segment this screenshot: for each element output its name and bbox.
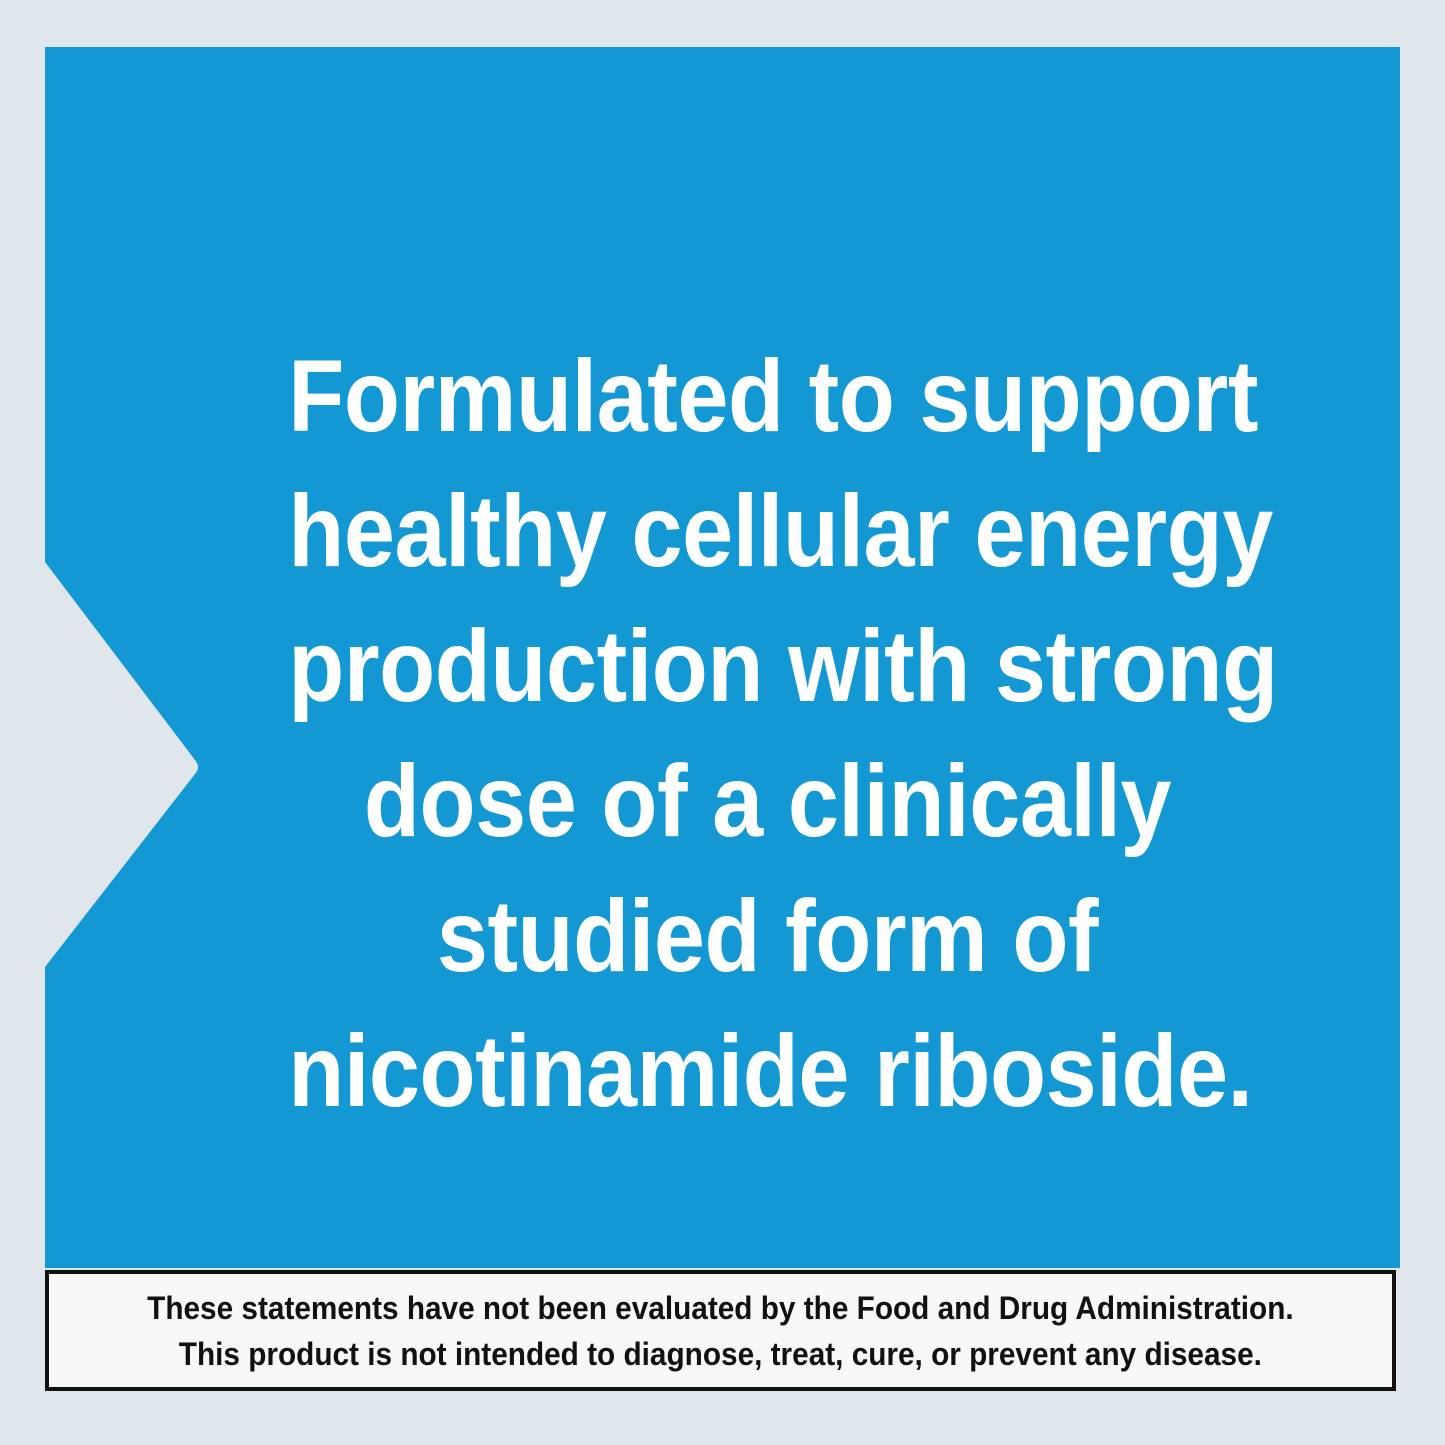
headline-line-6: nicotinamide riboside. [288,1004,1247,1139]
fda-disclaimer-box: These statements have not been evaluated… [45,1270,1396,1391]
headline-line-2: healthy cellular energy [288,464,1247,599]
headline-line-5: studied form of [288,869,1247,1004]
disclaimer-line-2: This product is not intended to diagnose… [179,1331,1262,1377]
disclaimer-line-1: These statements have not been evaluated… [147,1285,1294,1331]
headline-line-1: Formulated to support [288,329,1247,464]
blue-claim-panel: Formulated to support healthy cellular e… [45,47,1400,1268]
product-claim-card: Formulated to support healthy cellular e… [0,0,1445,1445]
headline-line-4: dose of a clinically [288,734,1247,869]
headline-line-3: production with strong [288,599,1247,734]
chevron-right-icon [45,562,200,967]
headline-text: Formulated to support healthy cellular e… [288,329,1247,1139]
